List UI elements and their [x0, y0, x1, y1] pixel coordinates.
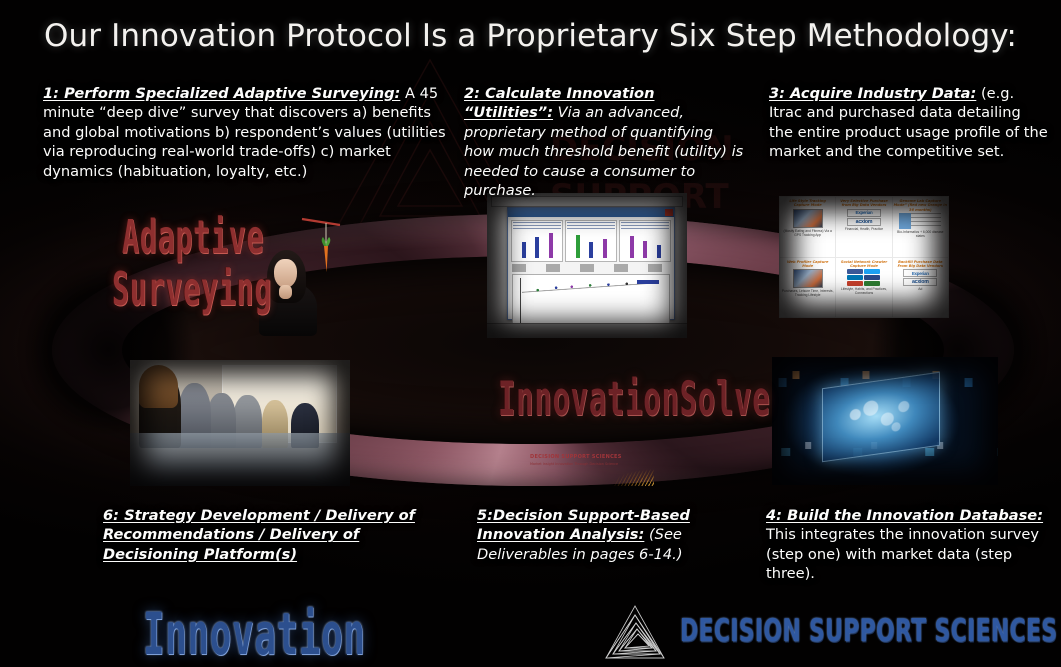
- step-4-heading: 4: Build the Innovation Database:: [766, 507, 1043, 524]
- ring-watermark: DECISION SUPPORT SCIENCES Market Insight…: [522, 452, 654, 486]
- utility-panel: [619, 220, 671, 262]
- card-thumbnail: [793, 209, 823, 228]
- boardroom-meeting-photo: [130, 360, 350, 486]
- ring-watermark-subtitle: Market Insight Innovation Through Decisi…: [530, 462, 618, 466]
- step-3-text: 3: Acquire Industry Data: (e.g. Itrac an…: [769, 84, 1049, 162]
- adaptive-wordart: Adaptive: [122, 210, 264, 264]
- digital-world-data-photo: [772, 357, 998, 485]
- nested-triangle-spiral-icon: [604, 604, 666, 662]
- carrot-on-stick-icon: [300, 216, 344, 286]
- step-2-text: 2: Calculate Innovation “Utilities”: Via…: [464, 84, 747, 200]
- window-titlebar: [508, 208, 674, 217]
- innovationsolve-wordart: InnovationSolve: [498, 372, 770, 427]
- close-icon: [665, 209, 673, 216]
- data-source-card: Social Network Crawler Capture Mode Life…: [836, 258, 891, 318]
- utility-panel: [565, 220, 617, 262]
- step-6-text: 6: Strategy Development / Delivery of Re…: [103, 506, 453, 564]
- conference-table: [130, 433, 350, 486]
- surveying-wordart: Surveying: [112, 262, 272, 316]
- woman-face: [274, 259, 297, 288]
- experian-logo: Experian: [847, 209, 881, 217]
- data-source-card: Genome Lab Capture Mode” (Red new Orange…: [893, 197, 948, 257]
- card-thumbnail: [899, 213, 941, 229]
- window-status-row: [512, 264, 670, 272]
- taskbar: [487, 323, 687, 338]
- step-5-text: 5:Decision Support-Based Innovation Anal…: [477, 506, 739, 564]
- innovationsolve-window: [507, 207, 675, 320]
- step-3-heading: 3: Acquire Industry Data:: [769, 85, 976, 102]
- data-source-card: Web Profiler Capture Mode Purchases, Lei…: [780, 258, 835, 318]
- data-source-card: Backfill Purchase Data From Big Data Ven…: [893, 258, 948, 318]
- card-thumbnail: [793, 269, 823, 288]
- app-window-screenshot: [487, 193, 687, 338]
- acxiom-logo: acxiom: [847, 218, 881, 226]
- data-source-card: Life Style Tracking Capture Mode (Mostly…: [780, 197, 835, 257]
- ring-watermark-title: DECISION SUPPORT SCIENCES: [530, 454, 622, 460]
- acxiom-logo: acxiom: [903, 278, 937, 286]
- industry-data-collage: Life Style Tracking Capture Mode (Mostly…: [779, 196, 949, 318]
- page-title: Our Innovation Protocol Is a Proprietary…: [0, 18, 1061, 54]
- woman-hand: [279, 285, 291, 299]
- slide-canvas: DECISION SUPPORT Our Innovation Protocol…: [0, 0, 1061, 667]
- step-6-heading: 6: Strategy Development / Delivery of Re…: [103, 507, 415, 563]
- brand-name: DECISION SUPPORT SCIENCES: [680, 612, 1057, 649]
- innovation-wordart: Innovation: [143, 600, 366, 667]
- step-4-text: 4: Build the Innovation Database: This i…: [766, 506, 1056, 584]
- utility-panel: [511, 220, 563, 262]
- step-1-heading: 1: Perform Specialized Adaptive Surveyin…: [43, 85, 400, 102]
- world-map-icon: [832, 380, 929, 454]
- step-1-text: 1: Perform Specialized Adaptive Surveyin…: [43, 84, 455, 181]
- data-source-card: Very Selective Purchase from Big Data Ve…: [836, 197, 891, 257]
- utility-panel-row: [508, 217, 674, 263]
- step-4-body: This integrates the innovation survey (s…: [766, 526, 1039, 582]
- experian-logo: Experian: [903, 269, 937, 277]
- social-network-icons: [846, 269, 882, 286]
- meeting-person-hair: [139, 365, 179, 408]
